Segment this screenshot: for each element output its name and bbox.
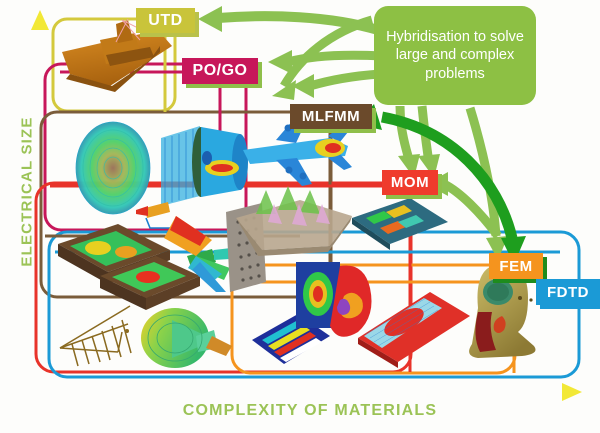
method-badge-mlfmm[interactable]: MLFMM [290, 104, 372, 129]
sim-image-radiation-lobe [76, 122, 150, 214]
method-badge-label: MOM [391, 175, 429, 190]
method-badge-fem[interactable]: FEM [489, 253, 543, 279]
axis-x [40, 383, 582, 401]
diagram-canvas: ELECTRICAL SIZE COMPLEXITY OF MATERIALS … [0, 0, 600, 433]
method-badge-label: FEM [499, 259, 532, 274]
sim-image-meshed-slab [358, 292, 470, 368]
sim-image-terrain-scattering [236, 186, 352, 256]
method-badge-label: PO/GO [193, 63, 248, 79]
sim-image-head-sar [296, 262, 372, 337]
method-badge-label: MLFMM [302, 109, 360, 124]
method-badge-pogo[interactable]: PO/GO [182, 58, 258, 84]
arrow-callout-to-pogo [268, 50, 382, 74]
y-axis-label: ELECTRICAL SIZE [19, 112, 36, 272]
sim-image-small-horn [136, 202, 176, 228]
hybridisation-callout-text: Hybridisation to solve large and complex… [384, 28, 526, 82]
method-badge-label: UTD [148, 13, 182, 29]
hybridisation-callout: Hybridisation to solve large and complex… [374, 6, 536, 105]
x-axis-label: COMPLEXITY OF MATERIALS [150, 402, 470, 420]
sim-image-horn-cone [141, 308, 232, 368]
sim-image-log-periodic-antenna [60, 306, 131, 366]
method-badge-mom[interactable]: MOM [382, 170, 438, 195]
sim-image-microstrip-patches [352, 198, 448, 250]
arrow-callout-to-mlfmm-a [292, 74, 380, 98]
method-badge-fdtd[interactable]: FDTD [536, 279, 600, 305]
method-badge-label: FDTD [547, 285, 589, 300]
sim-image-cylinder-field [161, 126, 248, 206]
method-badge-utd[interactable]: UTD [136, 8, 195, 33]
